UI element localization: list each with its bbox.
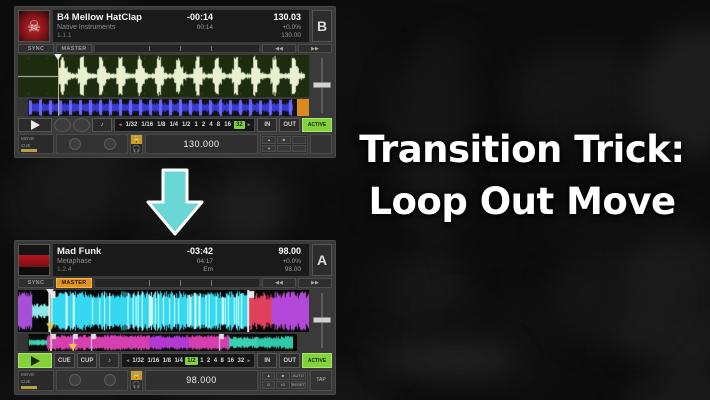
- loop-next-arrow[interactable]: ▸: [247, 358, 252, 364]
- title-line-2: Loop Out Move: [344, 180, 700, 224]
- overview-left-cap: [18, 99, 29, 116]
- cue-knob-2[interactable]: [73, 118, 90, 132]
- title-line-1: Transition Trick:: [344, 128, 700, 172]
- beat-position: 1.1.1: [57, 32, 305, 40]
- album-art: ☠: [18, 10, 50, 42]
- deck-b-bottom-strip: MOVE CUE 🔒 🎧 130.000 ▲ ■ ▼: [18, 134, 332, 154]
- mini-3[interactable]: [292, 136, 306, 143]
- beatjump-back-button[interactable]: ◀◀: [262, 44, 296, 53]
- bpm-readouts: 98.00 +0.0% 98.00: [278, 246, 301, 274]
- move-cue-selector[interactable]: MOVE CUE: [18, 134, 54, 154]
- deck-b-sync-row: SYNC MASTER ◀◀ ▶▶: [18, 44, 332, 53]
- tempo-mini-buttons[interactable]: ▲ ■ AUTO /2 x2 RESET: [260, 370, 308, 391]
- tempo-display[interactable]: 130.000: [145, 134, 258, 154]
- beat-phase-meter: [94, 278, 260, 288]
- overview-waveform[interactable]: [18, 334, 309, 351]
- deck-a-sync-row: SYNC MASTER ◀◀ ▶▶: [18, 278, 332, 288]
- cue-knob-1[interactable]: [54, 118, 71, 132]
- deck-b-waveform-area: [18, 55, 332, 116]
- overview-waveform[interactable]: [18, 99, 309, 116]
- loop-size-16[interactable]: 16: [226, 358, 235, 364]
- time-remaining: -00:14: [187, 12, 213, 23]
- tap-button[interactable]: [310, 134, 332, 154]
- bpm-value: 98.00: [278, 246, 301, 257]
- headphone-cue-button[interactable]: ♪: [92, 118, 112, 132]
- pitch-value: +0.0%: [273, 23, 301, 32]
- loop-size-1-16[interactable]: 1/16: [146, 358, 160, 364]
- lock-monitor-column: 🔒 🎧: [130, 134, 143, 154]
- playhead-marker: [58, 55, 59, 116]
- title-overlay: Transition Trick: Loop Out Move: [344, 128, 700, 224]
- filter-knobs[interactable]: [56, 134, 128, 154]
- mini-2[interactable]: ■: [277, 136, 291, 143]
- half-button[interactable]: /2: [262, 381, 275, 389]
- loop-out-button[interactable]: OUT: [279, 353, 300, 368]
- time-readouts: -00:14 00:14: [187, 12, 213, 32]
- headphone-button[interactable]: 🎧: [131, 144, 142, 153]
- mini-5[interactable]: [277, 145, 291, 152]
- deck-a-panel: Mad Funk Metaphase 1.2.4 -03:42 04:17 Em…: [14, 240, 336, 395]
- move-label: MOVE: [21, 136, 51, 141]
- knob-y[interactable]: [104, 374, 116, 386]
- loop-size-32[interactable]: 32: [236, 358, 245, 364]
- loop-size-2[interactable]: 2: [201, 122, 206, 128]
- loop-size-1-32[interactable]: 1/32: [131, 358, 145, 364]
- mini-4[interactable]: ▼: [262, 145, 276, 152]
- track-artist: Metaphase: [57, 257, 305, 266]
- knob-x[interactable]: [69, 374, 81, 386]
- cup-button[interactable]: CUP: [77, 353, 98, 368]
- overview-left-cap: [18, 334, 29, 351]
- loop-in-button[interactable]: IN: [257, 353, 277, 368]
- loop-size-1-32[interactable]: 1/32: [125, 122, 139, 128]
- track-artist: Native Instruments: [57, 23, 305, 32]
- bpm-readouts: 130.03 +0.0% 130.00: [273, 12, 301, 40]
- cue-label: CUE: [21, 379, 51, 384]
- sync-button[interactable]: SYNC: [18, 44, 54, 53]
- move-cue-selector[interactable]: MOVE CUE: [18, 370, 54, 391]
- loop-size-selector[interactable]: ◂1/321/161/81/41/212481632▸: [114, 118, 255, 132]
- loop-size-1-16[interactable]: 1/16: [140, 122, 154, 128]
- knob-y[interactable]: [104, 138, 116, 150]
- tempo-fader[interactable]: [312, 55, 332, 116]
- track-title: B4 Mellow HatClap: [57, 12, 305, 23]
- loop-size-8[interactable]: 8: [220, 358, 225, 364]
- mini-1[interactable]: ▲: [262, 136, 276, 143]
- mini-up[interactable]: ▲: [262, 372, 275, 380]
- deck-b-transport: ♪ ◂1/321/161/81/41/212481632▸ IN OUT ACT…: [18, 118, 332, 132]
- filter-knobs[interactable]: [56, 370, 128, 391]
- down-arrow-icon: [136, 168, 214, 238]
- loop-size-4[interactable]: 4: [213, 358, 218, 364]
- loop-size-1[interactable]: 1: [193, 122, 198, 128]
- loop-size-2[interactable]: 2: [206, 358, 211, 364]
- loop-prev-arrow[interactable]: ◂: [118, 122, 123, 128]
- playhead-marker: [50, 290, 51, 351]
- play-button[interactable]: [18, 353, 52, 368]
- beatjump-fwd-button[interactable]: ▶▶: [298, 278, 332, 288]
- headphone-cue-button[interactable]: ♪: [99, 353, 119, 368]
- reset-button[interactable]: RESET: [291, 381, 306, 389]
- bpm-base-value: 130.00: [273, 32, 301, 40]
- time-remaining: -03:42: [187, 246, 213, 257]
- loop-size-32[interactable]: 32: [234, 121, 245, 129]
- headphone-button[interactable]: 🎧: [131, 380, 142, 390]
- deck-a-transport: CUE CUP ♪ ◂1/321/161/81/41/212481632▸ IN…: [18, 353, 332, 368]
- double-button[interactable]: x2: [276, 381, 289, 389]
- deck-letter-badge: B: [312, 10, 332, 42]
- key-lock-button[interactable]: 🔒: [131, 371, 142, 381]
- bpm-value: 130.03: [273, 12, 301, 23]
- time-readouts: -03:42 04:17 Em: [187, 246, 213, 274]
- knob-x[interactable]: [69, 138, 81, 150]
- play-button[interactable]: [18, 118, 52, 132]
- time-elapsed: 04:17: [187, 257, 213, 266]
- tap-button[interactable]: TAP: [310, 370, 332, 391]
- loop-active-button[interactable]: ACTIVE: [302, 118, 332, 132]
- overview-right-cap: [297, 334, 309, 351]
- loop-size-1-8[interactable]: 1/8: [162, 358, 172, 364]
- loop-size-16[interactable]: 16: [223, 122, 232, 128]
- track-title: Mad Funk: [57, 246, 305, 257]
- loop-active-button[interactable]: ACTIVE: [302, 353, 332, 368]
- album-art: [18, 244, 50, 276]
- tempo-display[interactable]: 98.000: [145, 370, 258, 391]
- deck-letter-badge: A: [312, 244, 332, 276]
- master-button[interactable]: MASTER: [56, 278, 92, 288]
- cue-button[interactable]: CUE: [54, 353, 75, 368]
- bpm-base-value: 98.00: [278, 266, 301, 274]
- deck-b-panel: ☠ B4 Mellow HatClap Native Instruments 1…: [14, 6, 336, 158]
- time-elapsed: 00:14: [187, 23, 213, 32]
- pitch-value: +0.0%: [278, 257, 301, 266]
- beat-position: 1.2.4: [57, 266, 305, 274]
- tempo-fader[interactable]: [312, 290, 332, 351]
- deck-a-bottom-strip: MOVE CUE 🔒 🎧 98.000 ▲ ■ AUTO /2 x2 RESET…: [18, 370, 332, 391]
- loop-size-1-2[interactable]: 1/2: [185, 357, 197, 365]
- track-info: B4 Mellow HatClap Native Instruments 1.1…: [53, 10, 309, 42]
- loop-size-1-4[interactable]: 1/4: [169, 122, 179, 128]
- master-button[interactable]: MASTER: [56, 44, 92, 53]
- deck-b-header: ☠ B4 Mellow HatClap Native Instruments 1…: [18, 10, 332, 42]
- track-key: Em: [187, 266, 213, 274]
- key-lock-button[interactable]: 🔒: [131, 135, 142, 144]
- main-waveform[interactable]: [18, 290, 309, 332]
- loop-size-4[interactable]: 4: [208, 122, 213, 128]
- beatjump-fwd-button[interactable]: ▶▶: [298, 44, 332, 53]
- sync-button[interactable]: SYNC: [18, 278, 54, 288]
- loop-size-selector[interactable]: ◂1/321/161/81/41/212481632▸: [121, 353, 255, 368]
- loop-size-1-4[interactable]: 1/4: [173, 358, 183, 364]
- loop-in-button[interactable]: IN: [257, 118, 277, 132]
- loop-next-arrow[interactable]: ▸: [247, 122, 252, 128]
- loop-size-1-8[interactable]: 1/8: [156, 122, 166, 128]
- loop-size-1[interactable]: 1: [199, 358, 204, 364]
- loop-size-1-2[interactable]: 1/2: [181, 122, 191, 128]
- loop-prev-arrow[interactable]: ◂: [125, 358, 130, 364]
- loop-out-button[interactable]: OUT: [279, 118, 300, 132]
- mini-square[interactable]: ■: [276, 372, 289, 380]
- cue-label: CUE: [21, 143, 51, 148]
- loop-end-marker: [297, 99, 309, 116]
- mini-6[interactable]: [292, 145, 306, 152]
- lock-monitor-column: 🔒 🎧: [130, 370, 143, 391]
- deck-a-waveform-area: [18, 290, 332, 351]
- beat-phase-meter: [94, 44, 260, 53]
- loop-size-8[interactable]: 8: [216, 122, 221, 128]
- main-waveform[interactable]: [18, 55, 309, 97]
- tempo-mini-buttons[interactable]: ▲ ■ ▼: [260, 134, 308, 154]
- deck-a-header: Mad Funk Metaphase 1.2.4 -03:42 04:17 Em…: [18, 244, 332, 276]
- move-mode-indicator: [21, 149, 37, 152]
- auto-button[interactable]: AUTO: [291, 372, 306, 380]
- track-info: Mad Funk Metaphase 1.2.4 -03:42 04:17 Em…: [53, 244, 309, 276]
- move-label: MOVE: [21, 372, 51, 377]
- beatjump-back-button[interactable]: ◀◀: [262, 278, 296, 288]
- move-mode-indicator: [21, 386, 37, 389]
